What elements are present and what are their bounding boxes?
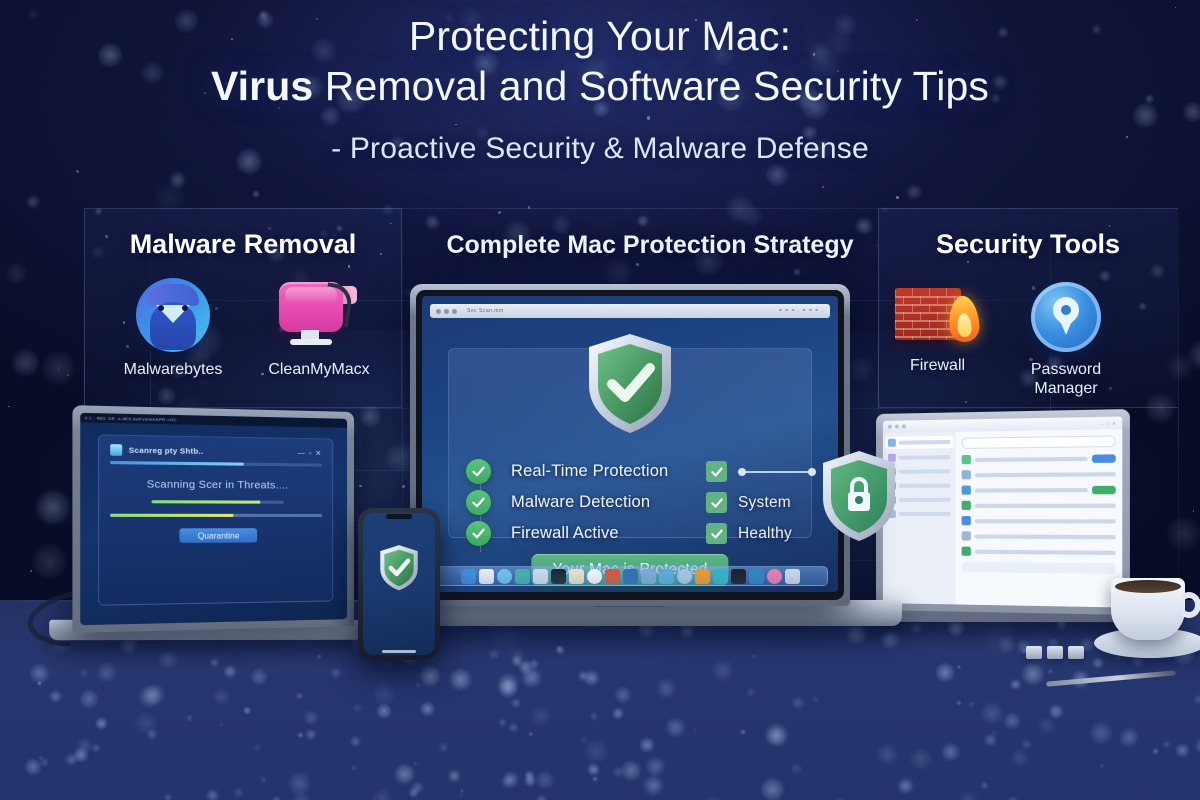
right-content-row[interactable] (962, 516, 1116, 526)
section-heading-center: Complete Mac Protection Strategy (390, 231, 910, 260)
laptop-center-screen: Sec Scan.mm = = = . = = = . (422, 296, 838, 592)
scan-progress-mid (152, 500, 283, 504)
checklist-item-label: Real-Time Protection (511, 462, 668, 481)
tool-label-cleanmymac: CleanMyMacx (256, 361, 382, 380)
scan-dialog: Scanreg pty Shtb.. — ▫ ✕ Scanning Scer i… (98, 434, 333, 605)
dock-icon[interactable] (677, 569, 692, 584)
connector-line (738, 468, 816, 476)
macos-dock[interactable] (432, 566, 828, 586)
checklist-item[interactable]: Firewall Active (466, 518, 668, 549)
right-footer-row (962, 562, 1116, 574)
tool-password-manager[interactable]: Password Manager (1006, 282, 1126, 398)
dock-icon[interactable] (461, 569, 476, 584)
center-window-title: Sec Scan.mm (467, 308, 504, 314)
scan-progress-low (110, 514, 322, 517)
phone-notch (386, 514, 412, 519)
dock-icon[interactable] (749, 569, 764, 584)
quarantine-button[interactable]: Quarantine (179, 528, 257, 543)
tool-label-firewall: Firewall (880, 357, 995, 376)
tool-firewall[interactable]: Firewall (880, 282, 995, 376)
dock-icon[interactable] (479, 569, 494, 584)
check-icon (466, 521, 491, 546)
laptop-left-lid: 4.1 : 4B3. DE ,s dE5 dsA'vmmhAPR·=OC Sca… (72, 405, 354, 633)
status-item[interactable]: Healthy (706, 518, 816, 549)
dock-icon[interactable] (713, 569, 728, 584)
status-item-label: Healthy (738, 525, 792, 543)
scan-app-icon (110, 444, 122, 456)
dock-icon[interactable] (659, 569, 674, 584)
dock-icon[interactable] (605, 569, 620, 584)
laptop-left: 4.1 : 4B3. DE ,s dE5 dsA'vmmhAPR·=OC Sca… (86, 412, 354, 626)
right-content-row[interactable] (962, 531, 1116, 541)
shield-check-icon (584, 332, 676, 436)
right-content-row[interactable] (962, 485, 1116, 495)
status-item[interactable]: System (706, 487, 816, 518)
scan-dialog-window-controls[interactable]: — ▫ ✕ (298, 449, 322, 457)
poster-canvas: Protecting Your Mac: Virus Removal and S… (0, 0, 1200, 800)
tool-label-malwarebytes: Malwarebytes (112, 361, 234, 380)
dock-icon[interactable] (551, 569, 566, 584)
system-status-list: SystemHealthy (706, 456, 816, 549)
check-icon (466, 459, 491, 484)
coffee-cup (1111, 578, 1185, 640)
right-content-row[interactable] (962, 453, 1116, 464)
dock-icon[interactable] (533, 569, 548, 584)
firewall-icon (895, 282, 981, 348)
scan-status-text: Scanning Scer in Threats.... (110, 478, 322, 492)
shield-check-icon (378, 544, 420, 592)
dock-icon[interactable] (497, 569, 512, 584)
check-icon (706, 492, 727, 513)
right-content-row[interactable] (962, 469, 1116, 479)
center-window-meta: = = = . = = = . (779, 308, 824, 314)
status-item-label: System (738, 494, 791, 512)
poster-header: Protecting Your Mac: Virus Removal and S… (0, 14, 1200, 166)
right-sidebar-item[interactable] (885, 436, 954, 449)
right-content-row[interactable] (962, 500, 1116, 509)
laptop-right-screen: – □ ✕ (883, 417, 1122, 608)
dock-icon[interactable] (515, 569, 530, 584)
page-title-line2: Virus Removal and Software Security Tips (0, 64, 1200, 110)
scan-dialog-title: Scanreg pty Shtb.. (129, 445, 204, 455)
check-icon (466, 490, 491, 515)
smartphone (358, 508, 440, 660)
checklist-item[interactable]: Real-Time Protection (466, 456, 668, 487)
laptop-center-lid: Sec Scan.mm = = = . = = = . (410, 284, 850, 606)
right-content-row[interactable] (962, 547, 1116, 557)
right-window-content (955, 429, 1122, 607)
dock-icon[interactable] (767, 569, 782, 584)
dock-icon[interactable] (785, 569, 800, 584)
page-title-emphasis: Virus (211, 63, 313, 109)
tool-malwarebytes[interactable]: Malwarebytes (112, 278, 234, 380)
tool-cleanmymac[interactable]: CleanMyMacx (256, 278, 382, 380)
dock-icon[interactable] (695, 569, 710, 584)
right-search-field[interactable] (962, 435, 1116, 448)
section-heading-malware-removal: Malware Removal (84, 229, 402, 260)
page-title-line1: Protecting Your Mac: (0, 14, 1200, 60)
tool-label-password-manager: Password Manager (1006, 361, 1126, 398)
right-window-controls[interactable]: – □ ✕ (1100, 420, 1117, 426)
shield-lock-icon (818, 448, 900, 544)
password-manager-icon (1031, 282, 1101, 352)
dock-icon[interactable] (641, 569, 656, 584)
section-heading-security-tools: Security Tools (878, 229, 1178, 260)
malwarebytes-icon (136, 278, 210, 352)
cleanmymac-icon (277, 278, 361, 352)
dock-icon[interactable] (623, 569, 638, 584)
laptop-left-screen: 4.1 : 4B3. DE ,s dE5 dsA'vmmhAPR·=OC Sca… (80, 413, 347, 625)
status-item[interactable] (706, 456, 816, 487)
dock-icon[interactable] (569, 569, 584, 584)
scan-progress-main (110, 461, 322, 467)
phone-home-indicator (382, 650, 416, 653)
check-icon (706, 461, 727, 482)
coffee-surface (1115, 580, 1181, 593)
left-screen-menubar: 4.1 : 4B3. DE ,s dE5 dsA'vmmhAPR·=OC (80, 413, 347, 428)
checklist-item[interactable]: Malware Detection (466, 487, 668, 518)
cup-handle (1177, 592, 1200, 618)
dock-icon[interactable] (731, 569, 746, 584)
usb-drives (1026, 646, 1084, 659)
laptop-right-lid: – □ ✕ (876, 409, 1130, 615)
left-menubar-text: 4.1 : 4B3. DE ,s dE5 dsA'vmmhAPR·=OC (85, 415, 177, 422)
checklist-item-label: Malware Detection (511, 493, 650, 512)
dock-icon[interactable] (587, 569, 602, 584)
laptop-center: Sec Scan.mm = = = . = = = . (410, 284, 850, 606)
page-title-rest: Removal and Software Security Tips (313, 63, 989, 109)
check-icon (706, 523, 727, 544)
protection-checklist: Real-Time ProtectionMalware DetectionFir… (466, 456, 668, 549)
security-app-window: – □ ✕ (883, 417, 1122, 608)
page-subtitle: - Proactive Security & Malware Defense (0, 132, 1200, 166)
center-window-titlebar: Sec Scan.mm = = = . = = = . (430, 304, 830, 318)
checklist-item-label: Firewall Active (511, 524, 619, 543)
laptop-right: – □ ✕ (876, 414, 1120, 610)
scan-dialog-header: Scanreg pty Shtb.. — ▫ ✕ (110, 444, 322, 458)
